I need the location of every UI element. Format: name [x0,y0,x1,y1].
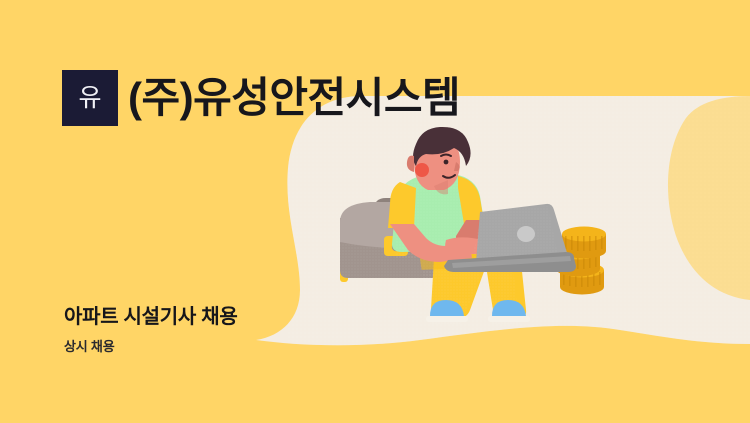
recruit-type: 상시 채용 [64,339,237,355]
job-posting-poster: 유 (주)유성안전시스템 [0,0,750,423]
caption-block: 아파트 시설기사 채용 상시 채용 [64,305,237,355]
company-logo: 유 [62,70,118,126]
illustration-man-with-laptop [330,118,630,353]
company-name: (주)유성안전시스템 [128,77,460,119]
shoes [426,300,530,322]
job-title: 아파트 시설기사 채용 [64,305,237,330]
logo-mark-text: 유 [78,86,101,111]
